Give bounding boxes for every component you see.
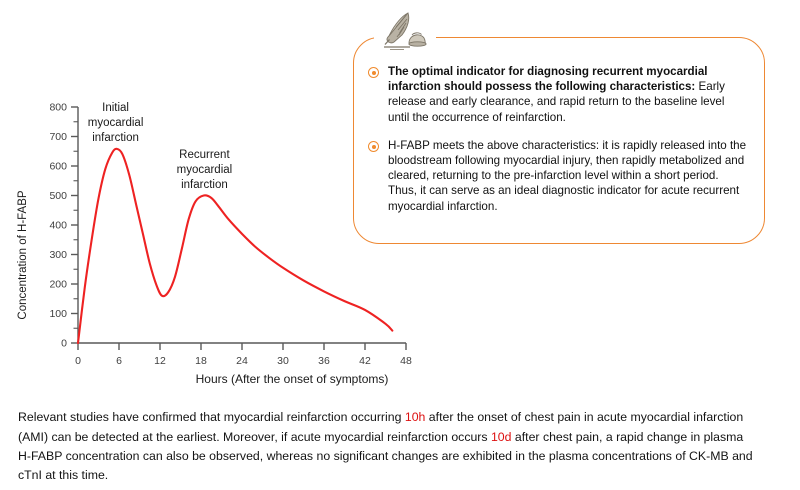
footer-highlight-10h: 10h	[405, 410, 426, 424]
callout-bullet-2: H-FABP meets the above characteristics: …	[367, 138, 747, 214]
x-axis-ticks: 0612182430364248	[75, 343, 412, 367]
callout-bullet-1: The optimal indicator for diagnosing rec…	[367, 64, 747, 125]
x-tick-label: 30	[277, 355, 289, 367]
callout-content: The optimal indicator for diagnosing rec…	[353, 56, 765, 227]
x-tick-label: 24	[236, 355, 248, 367]
y-tick-label: 400	[49, 220, 67, 232]
annotation-2-line-2: myocardial	[177, 164, 233, 176]
callout-bullet-1-text: The optimal indicator for diagnosing rec…	[388, 64, 747, 125]
footer-highlight-10d: 10d	[491, 430, 512, 444]
footer-part1: Relevant studies have confirmed that myo…	[18, 410, 405, 424]
y-tick-label: 800	[49, 102, 67, 114]
y-axis-ticks: 0100200300400500600700800	[49, 102, 78, 350]
annotation-1-line-3: infarction	[92, 132, 139, 144]
y-axis-title: Concentration of H-FABP	[17, 190, 29, 319]
footer-paragraph: Relevant studies have confirmed that myo…	[18, 408, 758, 485]
x-tick-label: 6	[116, 355, 122, 367]
quill-icon-svg	[376, 10, 434, 52]
y-tick-label: 600	[49, 161, 67, 173]
x-tick-label: 0	[75, 355, 81, 367]
annotation-1-line-1: Initial	[102, 102, 129, 114]
annotation-1-line-2: myocardial	[88, 117, 144, 129]
y-tick-label: 500	[49, 190, 67, 202]
double-circle-bullet-icon	[367, 140, 382, 155]
chart-annotations: InitialmyocardialinfarctionRecurrentmyoc…	[88, 102, 232, 191]
callout-bullet-2-body: H-FABP meets the above characteristics: …	[388, 139, 746, 213]
y-tick-label: 100	[49, 308, 67, 320]
annotation-2-line-3: infarction	[181, 179, 228, 191]
quill-pen-and-inkwell-icon	[374, 8, 436, 54]
callout-bullet-2-text: H-FABP meets the above characteristics: …	[388, 138, 747, 214]
callout-bullet-1-lead: The optimal indicator for diagnosing rec…	[388, 65, 708, 93]
x-tick-label: 42	[359, 355, 371, 367]
y-tick-label: 300	[49, 249, 67, 261]
y-tick-label: 200	[49, 279, 67, 291]
double-circle-bullet-icon	[367, 66, 382, 81]
x-tick-label: 48	[400, 355, 412, 367]
x-tick-label: 12	[154, 355, 166, 367]
x-axis-title: Hours (After the onset of symptoms)	[196, 372, 389, 386]
x-tick-label: 36	[318, 355, 330, 367]
annotation-2-line-1: Recurrent	[179, 149, 230, 161]
y-tick-label: 700	[49, 131, 67, 143]
y-tick-label: 0	[61, 338, 67, 350]
h-fabp-curve	[78, 149, 392, 343]
x-tick-label: 18	[195, 355, 207, 367]
